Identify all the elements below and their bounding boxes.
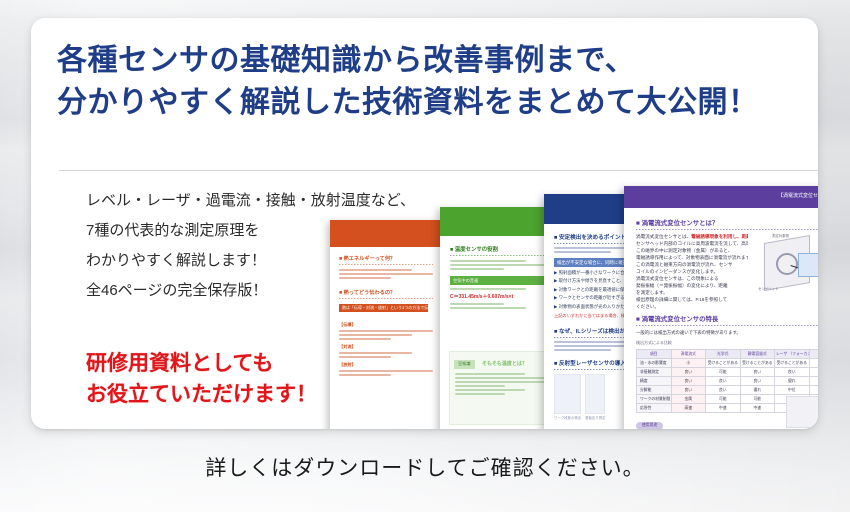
doc1-item-1-label: 【伝導】 — [339, 322, 433, 328]
doc3-figure-1 — [554, 374, 581, 414]
document-thumbnail-2[interactable]: 温度センサの役割 空気中の音速 C＝331.45m/s＋0.607m/s×t 豆… — [440, 207, 558, 429]
doc4-para-3: この磁界の中に測定対象物（金属）があると、 — [636, 247, 748, 254]
doc2-section-1-heading: 温度センサの役割 — [450, 245, 548, 253]
row-4-cell-1: 可能 — [706, 395, 741, 404]
row-0-header: 油・水の影響度 — [637, 359, 672, 368]
table-row: 分解能 良い 良い 優れ 中位 良い — [637, 386, 819, 395]
doc2-tip-title: そもそも温度とは？ — [482, 361, 527, 367]
row-0-cell-4: 無し — [809, 359, 818, 368]
row-1-header: 非接触測定 — [637, 368, 672, 377]
row-3-header: 分解能 — [637, 386, 672, 395]
row-2-cell-1: 良い — [706, 377, 741, 386]
row-2-cell-0: 良い — [671, 377, 706, 386]
table-col-4: レーザ （フォーカス式） — [775, 350, 810, 359]
doc4-para-9: を測定します。 — [636, 289, 748, 296]
headline-line-2: 分かりやすく解説した技術資料をまとめて大公開！ — [57, 82, 797, 124]
row-0-cell-2: 受けることがある — [740, 359, 775, 368]
row-5-cell-2: 中速 — [740, 404, 775, 413]
lead-line-4: 全46ページの完全保存版！ — [86, 276, 426, 306]
row-4-header: ワークの材質制限 — [637, 395, 672, 404]
row-0-cell-0: 小 — [671, 359, 706, 368]
row-3-cell-0: 良い — [671, 386, 706, 395]
table-col-0: 項目 — [637, 350, 672, 359]
doc3-figure-2 — [585, 374, 605, 414]
row-0-cell-3: 受けることがある — [775, 359, 810, 368]
row-2-cell-3: 優れ — [775, 377, 810, 386]
doc2-formula: C＝331.45m/s＋0.607m/s×t — [450, 293, 548, 300]
doc4-dotline-2 — [636, 325, 818, 326]
doc4-intro-text: 渦電流式変位センサとは、電磁誘導現象を利用し、距離を測定するセンサです。 センサ… — [636, 233, 748, 310]
row-1-cell-4: 無し — [809, 368, 818, 377]
document-thumbnail-4[interactable]: 【渦電流式変位センサとは？】 渦電流式変位センサとは？ 渦電流式変位センサとは、… — [624, 186, 818, 429]
footer-note: 詳しくはダウンロードしてご確認ください。 — [0, 452, 850, 482]
doc2-tip-panel: 豆知識 そもそも温度とは？ — [449, 351, 551, 425]
row-3-cell-4: 良い — [809, 386, 818, 395]
doc4-intro-row: 渦電流式変位センサとは、電磁誘導現象を利用し、距離を測定するセンサです。 センサ… — [636, 233, 818, 310]
doc4-table-note: 一般的には検出方式の違いで下表の特徴があります。 — [636, 330, 818, 336]
row-3-cell-2: 優れ — [740, 386, 775, 395]
doc4-diagram-coil — [776, 253, 798, 275]
doc2-header-band — [440, 207, 558, 236]
doc4-header-band: 【渦電流式変位センサとは？】 — [624, 186, 818, 208]
table-header-row: 項目 渦電流式 光学式 静電容量式 レーザ （フォーカス式） 接触式 — [637, 350, 819, 359]
doc4-footer-figure — [786, 396, 818, 428]
table-col-5: 接触式 — [809, 350, 818, 359]
doc4-para-6: コイルのインピーダンスが変化します。 — [636, 268, 748, 275]
doc1-item-2-label: 【対流】 — [339, 344, 433, 350]
row-1-cell-2: 良い — [740, 368, 775, 377]
row-2-cell-4: 良い — [809, 377, 818, 386]
divider — [59, 170, 818, 171]
row-2-cell-2: 良い — [740, 377, 775, 386]
doc4-dotline-1 — [636, 229, 818, 230]
table-row: 油・水の影響度 小 受けることがある 受けることがある 受けることがある 無し — [637, 359, 819, 368]
lead-line-3: わかりやすく解説します！ — [86, 246, 426, 276]
doc4-para-1: 渦電流式変位センサとは、電磁誘導現象を利用し、距離を測定するセンサです。 — [636, 233, 748, 240]
row-3-cell-3: 中位 — [775, 386, 810, 395]
doc3-caption-2: 基板反り測定 — [585, 415, 605, 420]
table-col-2: 光学式 — [706, 350, 741, 359]
promo-banner: 各種センサの基礎知識から改善事例まで、 分かりやすく解説した技術資料をまとめて大… — [0, 0, 850, 512]
doc4-para-4: 電磁誘導作用によって、対象物表面に渦電流が流れます。 — [636, 254, 748, 261]
doc2-body: 温度センサの役割 空気中の音速 C＝331.45m/s＋0.607m/s×t — [440, 236, 558, 320]
row-1-cell-1: 可能 — [706, 368, 741, 377]
row-0-cell-1: 受けることがある — [706, 359, 741, 368]
doc4-para-11: ください。 — [636, 303, 748, 310]
doc4-para-10: 検出原理の詳細に関しては、P.18を参照して — [636, 296, 748, 303]
headline-line-1: 各種センサの基礎知識から改善事例まで、 — [57, 44, 635, 77]
doc2-subbar: 空気中の音速 — [450, 276, 548, 285]
highlight-copy: 研修用資料としても お役立ていただけます！ — [86, 348, 317, 410]
lead-line-2: 7種の代表的な測定原理を — [86, 216, 426, 246]
doc4-para-7: 渦電流式変位センサは、この現象による — [636, 275, 748, 282]
doc4-diagram-callout — [798, 253, 818, 277]
row-3-cell-1: 良い — [706, 386, 741, 395]
row-4-cell-2: 可能 — [740, 395, 775, 404]
row-5-cell-1: 中速 — [706, 404, 741, 413]
doc4-band-label: 【渦電流式変位センサとは？】 — [778, 192, 818, 199]
doc4-table-caption: 検出方式による比較 — [636, 340, 818, 346]
doc4-section-1-heading: 渦電流式変位センサとは？ — [636, 218, 818, 227]
page-title: 各種センサの基礎知識から改善事例まで、 分かりやすく解説した技術資料をまとめて大… — [57, 40, 797, 124]
table-row: 非接触測定 良い 可能 良い 良い 無し — [637, 368, 819, 377]
highlight-line-2: お役立ていただけます！ — [86, 379, 317, 410]
doc4-footer-chip: 使用用途 — [636, 422, 663, 430]
doc4-section-2-heading: 渦電流式変位センサの特長 — [636, 314, 818, 323]
doc4-para-1b: 電磁誘導現象を利用し、距離を測定するセンサです。 — [691, 234, 748, 239]
doc4-para-8: 発振振幅（＝発振振幅）の変化により、距離 — [636, 282, 748, 289]
table-col-1: 渦電流式 — [671, 350, 706, 359]
doc4-diagram-coil-label: センサヘッド — [758, 286, 778, 291]
highlight-line-1: 研修用資料としても — [86, 348, 317, 379]
doc4-diagram-plate-label: 測定対象物 — [772, 233, 789, 238]
row-4-cell-0: 金属 — [671, 395, 706, 404]
doc2-dotline-1 — [450, 255, 548, 256]
table-row: 精度 良い 良い 良い 優れ 良い — [637, 377, 819, 386]
content-card: 各種センサの基礎知識から改善事例まで、 分かりやすく解説した技術資料をまとめて大… — [31, 18, 818, 429]
doc1-item-3-label: 【放射】 — [339, 362, 433, 368]
doc4-para-5: この渦電流と磁束方向の渦電流が流れ、センサ — [636, 261, 748, 268]
row-1-cell-0: 良い — [671, 368, 706, 377]
row-5-cell-0: 高速 — [671, 404, 706, 413]
doc4-diagram: 測定対象物 センサヘッド — [756, 233, 818, 299]
table-col-3: 静電容量式 — [740, 350, 775, 359]
doc2-tip-chip: 豆知識 — [454, 360, 475, 369]
row-1-cell-3: 良い — [775, 368, 810, 377]
row-5-header: 応答性 — [637, 404, 672, 413]
lead-copy: レベル・レーザ・過電流・接触・放射温度など、 7種の代表的な測定原理を わかりや… — [86, 186, 426, 306]
doc3-caption-1: ワーク段差の検出 — [554, 415, 581, 420]
doc4-para-2: センサヘッド内部のコイルに高周波電流を流して、高周波磁界を発生させます。 — [636, 240, 748, 247]
row-2-header: 精度 — [637, 377, 672, 386]
lead-line-1: レベル・レーザ・過電流・接触・放射温度など、 — [86, 186, 426, 216]
doc4-para-1a: 渦電流式変位センサとは、 — [636, 234, 691, 239]
